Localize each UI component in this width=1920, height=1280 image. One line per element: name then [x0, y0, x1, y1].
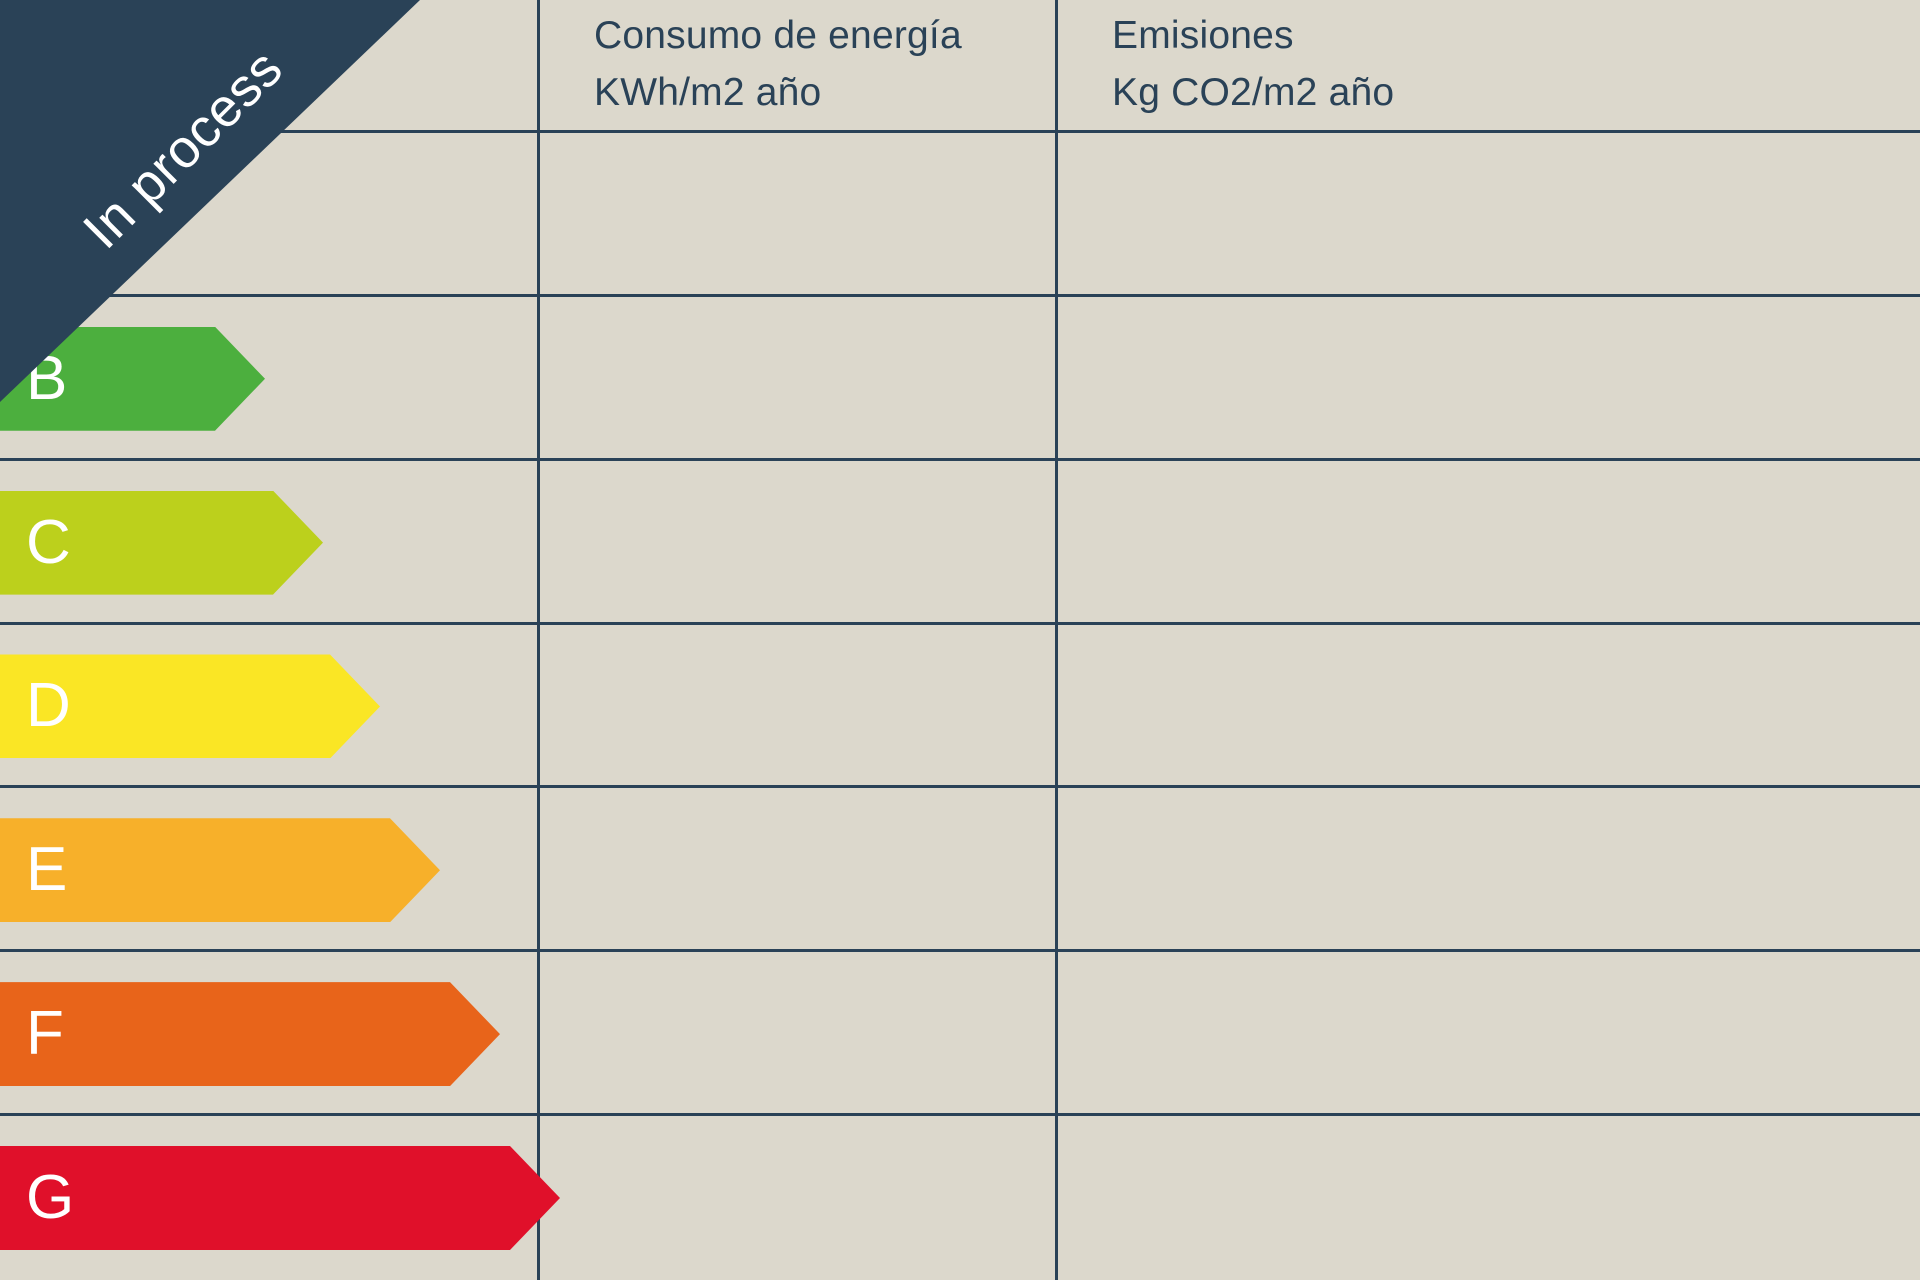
emissions-cell-d: [1058, 625, 1920, 789]
consumption-cell-c: [540, 461, 1058, 625]
header-cell-emissions: Emisiones Kg CO2/m2 año: [1058, 0, 1920, 133]
header-consumption-title: Consumo de energía: [594, 8, 1055, 65]
certificate-table: Consumo de energía KWh/m2 año Emisiones …: [0, 0, 1920, 1280]
header-emissions-unit: Kg CO2/m2 año: [1112, 65, 1920, 122]
emissions-cell-g: [1058, 1116, 1920, 1280]
rating-bar-letter-f: F: [0, 1003, 64, 1065]
consumption-cell-a: [540, 133, 1058, 297]
rating-bar-f[interactable]: F: [0, 982, 500, 1086]
rating-bar-letter-d: D: [0, 675, 71, 737]
emissions-cell-a: [1058, 133, 1920, 297]
rating-bar-letter-e: E: [0, 839, 67, 901]
emissions-cell-e: [1058, 788, 1920, 952]
emissions-cell-f: [1058, 952, 1920, 1116]
header-consumption-unit: KWh/m2 año: [594, 65, 1055, 122]
emissions-cell-b: [1058, 297, 1920, 461]
rating-bar-b[interactable]: B: [0, 327, 265, 431]
header-cell-consumption: Consumo de energía KWh/m2 año: [540, 0, 1058, 133]
consumption-cell-e: [540, 788, 1058, 952]
rating-bar-letter-b: B: [0, 348, 67, 410]
emissions-cell-c: [1058, 461, 1920, 625]
consumption-cell-f: [540, 952, 1058, 1116]
header-emissions-title: Emisiones: [1112, 8, 1920, 65]
rating-bar-letter-g: G: [0, 1167, 74, 1229]
rating-bar-g[interactable]: G: [0, 1146, 560, 1250]
consumption-cell-g: [540, 1116, 1058, 1280]
rating-bar-c[interactable]: C: [0, 491, 323, 595]
consumption-cell-d: [540, 625, 1058, 789]
energy-performance-certificate: Consumo de energía KWh/m2 año Emisiones …: [0, 0, 1920, 1280]
rating-bar-letter-c: C: [0, 512, 71, 574]
rating-bar-d[interactable]: D: [0, 654, 380, 758]
rating-bar-e[interactable]: E: [0, 818, 440, 922]
consumption-cell-b: [540, 297, 1058, 461]
